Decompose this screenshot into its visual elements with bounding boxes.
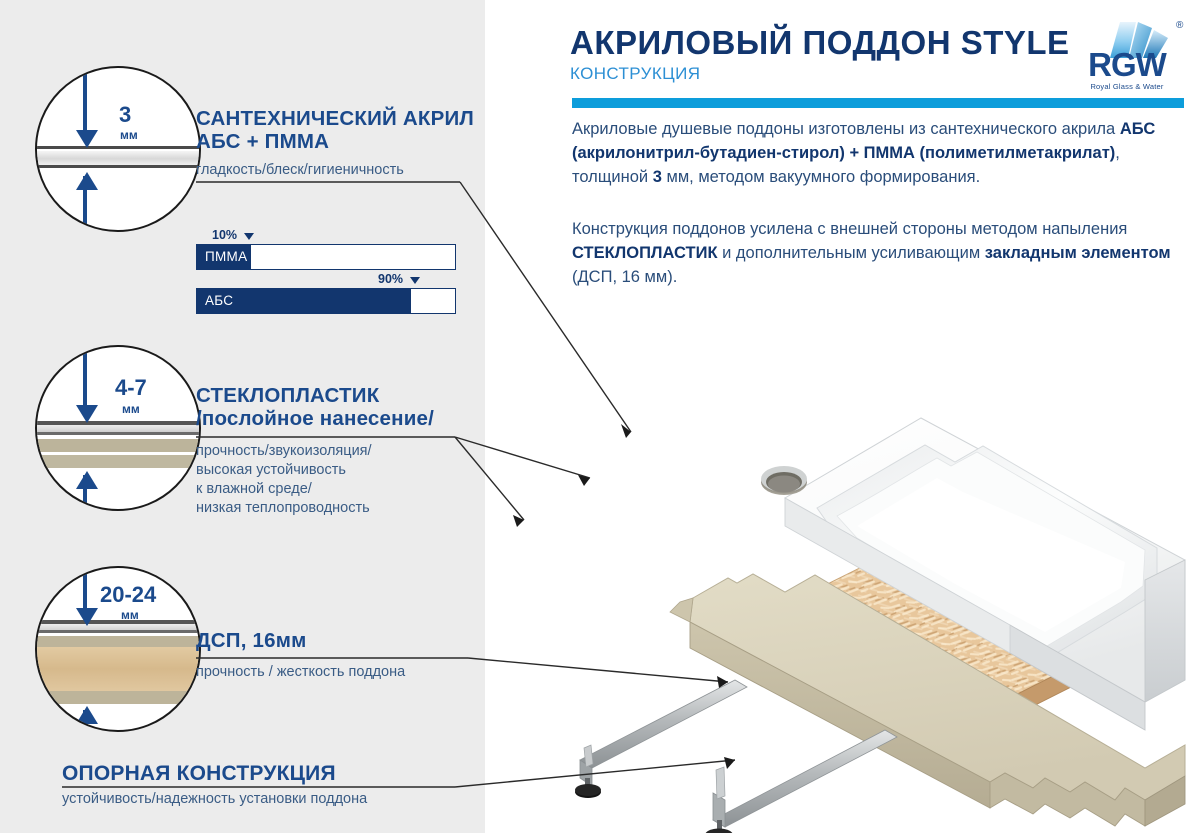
section-title-fiberglass-line1: СТЕКЛОПЛАСТИК (196, 384, 379, 407)
bar-percent-abs: 90% (378, 272, 403, 286)
support-description: устойчивость/надежность установки поддон… (62, 791, 367, 807)
detail-circle-chipboard: 20-24 мм (35, 566, 201, 732)
page-title: АКРИЛОВЫЙ ПОДДОН STYLE (570, 26, 1070, 61)
section-desc-acryl: гладкость/блеск/гигиеничность (196, 161, 486, 180)
diagram-page: АКРИЛОВЫЙ ПОДДОН STYLE КОНСТРУКЦИЯ RGW ® (0, 0, 1200, 833)
rgw-logo: RGW ® Royal Glass & Water (1062, 18, 1192, 100)
registered-mark-icon: ® (1176, 20, 1183, 31)
bar-caret-pmma (244, 233, 254, 240)
dimension-unit-acryl: мм (120, 128, 138, 142)
bar-caret-abs (410, 277, 420, 284)
page-subtitle: КОНСТРУКЦИЯ (570, 64, 1070, 84)
bar-percent-pmma: 10% (212, 228, 237, 242)
detail-circle-fiberglass: 4-7 мм (35, 345, 201, 511)
dimension-unit-chipboard: мм (121, 608, 139, 622)
section-title-chipboard: ДСП, 16мм (196, 630, 486, 653)
section-title-fiberglass: СТЕКЛОПЛАСТИК /послойное нанесение/ (196, 385, 486, 431)
section-desc-chipboard: прочность / жесткость поддона (196, 663, 486, 682)
description-paragraph-2: Конструкция поддонов усилена с внешней с… (572, 218, 1180, 290)
dimension-unit-fiberglass: мм (122, 402, 140, 416)
description-paragraph-1: Акриловые душевые поддоны изготовлены из… (572, 118, 1180, 190)
bar-track-pmma: ПММА (196, 244, 456, 270)
dimension-value-acryl: 3 (119, 102, 131, 128)
composition-bars: 10% ПММА 90% АБС (196, 228, 466, 308)
bar-track-abs: АБС (196, 288, 456, 314)
bar-label-pmma: ПММА (205, 249, 247, 264)
exploded-view-illustration (485, 330, 1200, 833)
section-title-acryl-line2: АБС + ПММА (196, 130, 329, 153)
section-title-fiberglass-line2: /послойное нанесение/ (196, 407, 434, 430)
support-title: ОПОРНАЯ КОНСТРУКЦИЯ (62, 762, 336, 786)
section-desc-fiberglass: прочность/звукоизоляция/ высокая устойчи… (196, 442, 486, 519)
detail-circle-acryl: 3 мм (35, 66, 201, 232)
section-title-chipboard-line1: ДСП, 16мм (196, 629, 306, 652)
bar-label-abs: АБС (205, 293, 233, 308)
logo-wordmark: RGW (1062, 48, 1192, 81)
section-title-acryl-line1: САНТЕХНИЧЕСКИЙ АКРИЛ (196, 107, 474, 130)
header-title-block: АКРИЛОВЫЙ ПОДДОН STYLE КОНСТРУКЦИЯ (570, 26, 1070, 84)
dimension-value-chipboard: 20-24 (100, 582, 156, 608)
metal-support-frame-front (705, 730, 897, 833)
section-title-acryl: САНТЕХНИЧЕСКИЙ АКРИЛ АБС + ПММА (196, 108, 486, 154)
dimension-value-fiberglass: 4-7 (115, 375, 147, 401)
drain-hole (761, 466, 807, 495)
logo-tagline: Royal Glass & Water (1062, 82, 1192, 91)
